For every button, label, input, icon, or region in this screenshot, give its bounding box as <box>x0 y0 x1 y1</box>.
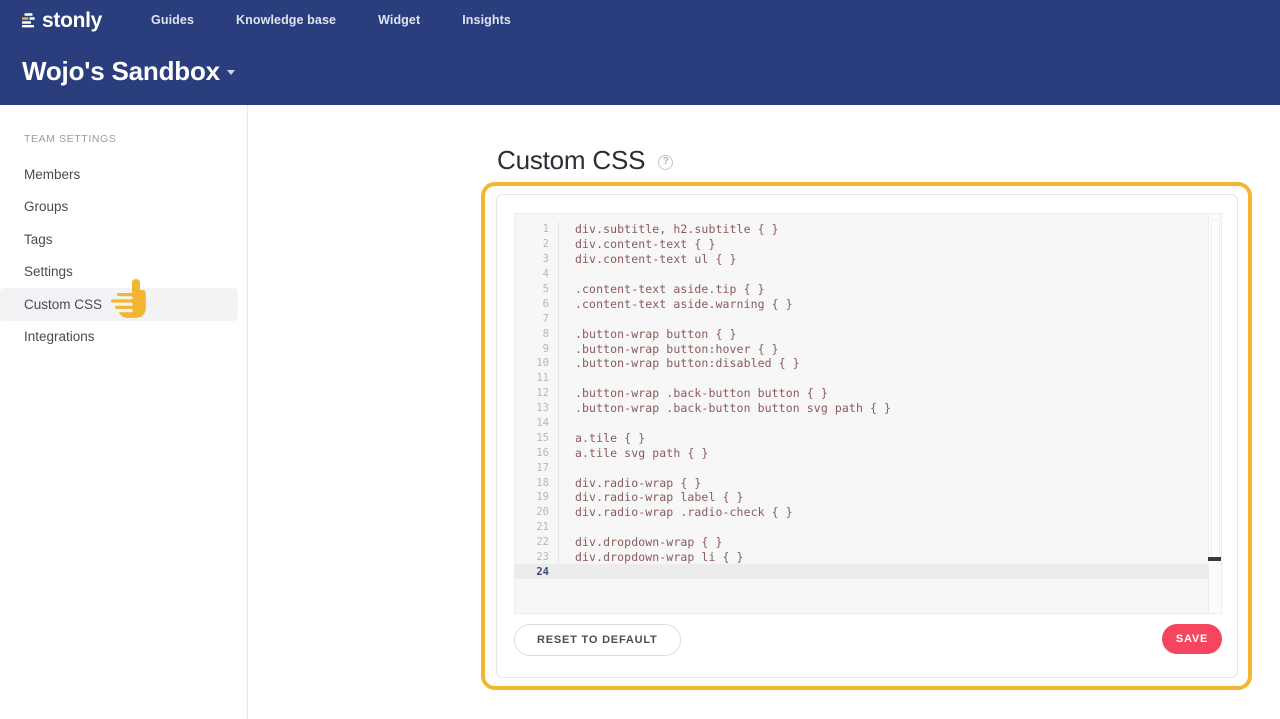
code-text: .button-wrap .back-button button svg pat… <box>559 401 891 415</box>
code-line-active[interactable]: 24 <box>515 564 1221 579</box>
editor-scrollbar-thumb[interactable] <box>1211 220 1220 558</box>
line-number: 7 <box>515 313 558 325</box>
workspace-name: Wojo's Sandbox <box>22 56 220 87</box>
code-line[interactable]: 6 .content-text aside.warning { } <box>515 296 1221 311</box>
code-line[interactable]: 17 <box>515 460 1221 475</box>
line-number: 18 <box>515 477 558 489</box>
css-code-editor[interactable]: 1 div.subtitle, h2.subtitle { } 2 div.co… <box>514 213 1222 614</box>
nav-link-knowledge-base[interactable]: Knowledge base <box>215 13 357 27</box>
code-line[interactable]: 21 <box>515 520 1221 535</box>
sidebar-item-settings[interactable]: Settings <box>0 256 238 289</box>
sidebar-item-integrations[interactable]: Integrations <box>0 321 238 354</box>
reset-to-default-button[interactable]: RESET TO DEFAULT <box>514 624 681 656</box>
line-number: 15 <box>515 432 558 444</box>
line-number: 9 <box>515 343 558 355</box>
line-number: 5 <box>515 283 558 295</box>
sidebar-item-label: Custom CSS <box>24 297 102 312</box>
top-navigation-bar: stonly Guides Knowledge base Widget Insi… <box>0 0 1280 105</box>
code-line[interactable]: 19 div.radio-wrap label { } <box>515 490 1221 505</box>
code-text: div.radio-wrap { } <box>559 476 701 490</box>
code-line[interactable]: 20 div.radio-wrap .radio-check { } <box>515 505 1221 520</box>
gutter-divider <box>558 267 559 282</box>
question-mark-help-icon[interactable]: ? <box>658 155 673 170</box>
code-text: div.dropdown-wrap li { } <box>559 550 744 564</box>
code-line[interactable]: 1 div.subtitle, h2.subtitle { } <box>515 222 1221 237</box>
code-text: div.content-text ul { } <box>559 252 737 266</box>
gutter-divider <box>558 564 559 579</box>
custom-css-card: 1 div.subtitle, h2.subtitle { } 2 div.co… <box>496 194 1238 678</box>
line-number: 22 <box>515 536 558 548</box>
gutter-divider <box>558 460 559 475</box>
code-text: a.tile svg path { } <box>559 446 708 460</box>
stonly-blocks-logo-icon <box>20 12 37 29</box>
code-text: .button-wrap button { } <box>559 327 737 341</box>
code-line[interactable]: 4 <box>515 267 1221 282</box>
code-text: .content-text aside.warning { } <box>559 297 793 311</box>
line-number: 2 <box>515 238 558 250</box>
line-number: 13 <box>515 402 558 414</box>
code-text: .button-wrap button:hover { } <box>559 342 779 356</box>
sidebar-item-label: Groups <box>24 199 68 214</box>
sidebar-item-tags[interactable]: Tags <box>0 223 238 256</box>
editor-vertical-scrollbar[interactable] <box>1208 214 1221 613</box>
code-text: a.tile { } <box>559 431 645 445</box>
code-line[interactable]: 18 div.radio-wrap { } <box>515 475 1221 490</box>
code-line[interactable]: 9 .button-wrap button:hover { } <box>515 341 1221 356</box>
brand-name-text: stonly <box>42 10 102 31</box>
sidebar-item-custom-css[interactable]: Custom CSS <box>0 288 238 321</box>
code-line[interactable]: 8 .button-wrap button { } <box>515 326 1221 341</box>
line-number: 4 <box>515 268 558 280</box>
line-number: 23 <box>515 551 558 563</box>
code-line[interactable]: 16 a.tile svg path { } <box>515 445 1221 460</box>
sidebar-item-list: Members Groups Tags Settings Custom CSS … <box>0 158 247 353</box>
sidebar-heading: TEAM SETTINGS <box>24 133 116 145</box>
code-line[interactable]: 7 <box>515 311 1221 326</box>
code-line[interactable]: 5 .content-text aside.tip { } <box>515 282 1221 297</box>
line-number: 8 <box>515 328 558 340</box>
nav-link-insights[interactable]: Insights <box>441 13 532 27</box>
gutter-divider <box>558 371 559 386</box>
line-number: 14 <box>515 417 558 429</box>
code-text: div.radio-wrap .radio-check { } <box>559 505 793 519</box>
code-line[interactable]: 3 div.content-text ul { } <box>515 252 1221 267</box>
gutter-divider <box>558 520 559 535</box>
line-number: 3 <box>515 253 558 265</box>
code-line[interactable]: 12 .button-wrap .back-button button { } <box>515 386 1221 401</box>
gutter-divider <box>558 311 559 326</box>
sidebar-item-label: Settings <box>24 264 73 279</box>
code-line[interactable]: 11 <box>515 371 1221 386</box>
line-number: 17 <box>515 462 558 474</box>
nav-links: Guides Knowledge base Widget Insights <box>130 13 532 27</box>
line-number: 6 <box>515 298 558 310</box>
team-settings-sidebar: TEAM SETTINGS Members Groups Tags Settin… <box>0 105 248 719</box>
editor-scrollbar-corner <box>1208 557 1221 561</box>
line-number: 11 <box>515 372 558 384</box>
save-button[interactable]: SAVE <box>1162 624 1222 654</box>
line-number: 24 <box>515 566 558 578</box>
line-number: 16 <box>515 447 558 459</box>
line-number: 20 <box>515 506 558 518</box>
main-content-area: Custom CSS ? 1 div.subtitle, h2.subtitle… <box>248 105 1280 719</box>
primary-nav-row: stonly Guides Knowledge base Widget Insi… <box>0 0 1280 40</box>
line-number: 12 <box>515 387 558 399</box>
line-number: 21 <box>515 521 558 533</box>
sidebar-item-label: Integrations <box>24 329 95 344</box>
brand-logo[interactable]: stonly <box>20 10 102 31</box>
code-text: .content-text aside.tip { } <box>559 282 765 296</box>
code-text: div.dropdown-wrap { } <box>559 535 723 549</box>
gutter-divider <box>558 416 559 431</box>
code-text: div.subtitle, h2.subtitle { } <box>559 222 779 236</box>
sidebar-item-members[interactable]: Members <box>0 158 238 191</box>
page-title: Custom CSS <box>497 145 645 176</box>
code-lines-container: 1 div.subtitle, h2.subtitle { } 2 div.co… <box>515 222 1221 614</box>
nav-link-guides[interactable]: Guides <box>130 13 215 27</box>
line-number: 19 <box>515 491 558 503</box>
code-line[interactable]: 13 .button-wrap .back-button button svg … <box>515 401 1221 416</box>
code-text: .button-wrap .back-button button { } <box>559 386 828 400</box>
code-text: div.radio-wrap label { } <box>559 490 744 504</box>
code-line[interactable]: 14 <box>515 416 1221 431</box>
sidebar-item-label: Tags <box>24 232 53 247</box>
code-line[interactable]: 10 .button-wrap button:disabled { } <box>515 356 1221 371</box>
page-header: Custom CSS ? <box>497 145 673 176</box>
code-line[interactable]: 23 div.dropdown-wrap li { } <box>515 550 1221 565</box>
code-text: div.content-text { } <box>559 237 715 251</box>
code-line[interactable]: 22 div.dropdown-wrap { } <box>515 535 1221 550</box>
code-text: .button-wrap button:disabled { } <box>559 356 800 370</box>
code-line[interactable]: 15 a.tile { } <box>515 430 1221 445</box>
code-line[interactable]: 2 div.content-text { } <box>515 237 1221 252</box>
chevron-down-icon[interactable] <box>227 70 235 75</box>
nav-link-widget[interactable]: Widget <box>357 13 441 27</box>
line-number: 10 <box>515 357 558 369</box>
sidebar-item-groups[interactable]: Groups <box>0 191 238 224</box>
card-footer: RESET TO DEFAULT SAVE <box>514 624 1222 656</box>
sidebar-item-label: Members <box>24 167 80 182</box>
workspace-selector[interactable]: Wojo's Sandbox <box>22 56 235 87</box>
line-number: 1 <box>515 223 558 235</box>
